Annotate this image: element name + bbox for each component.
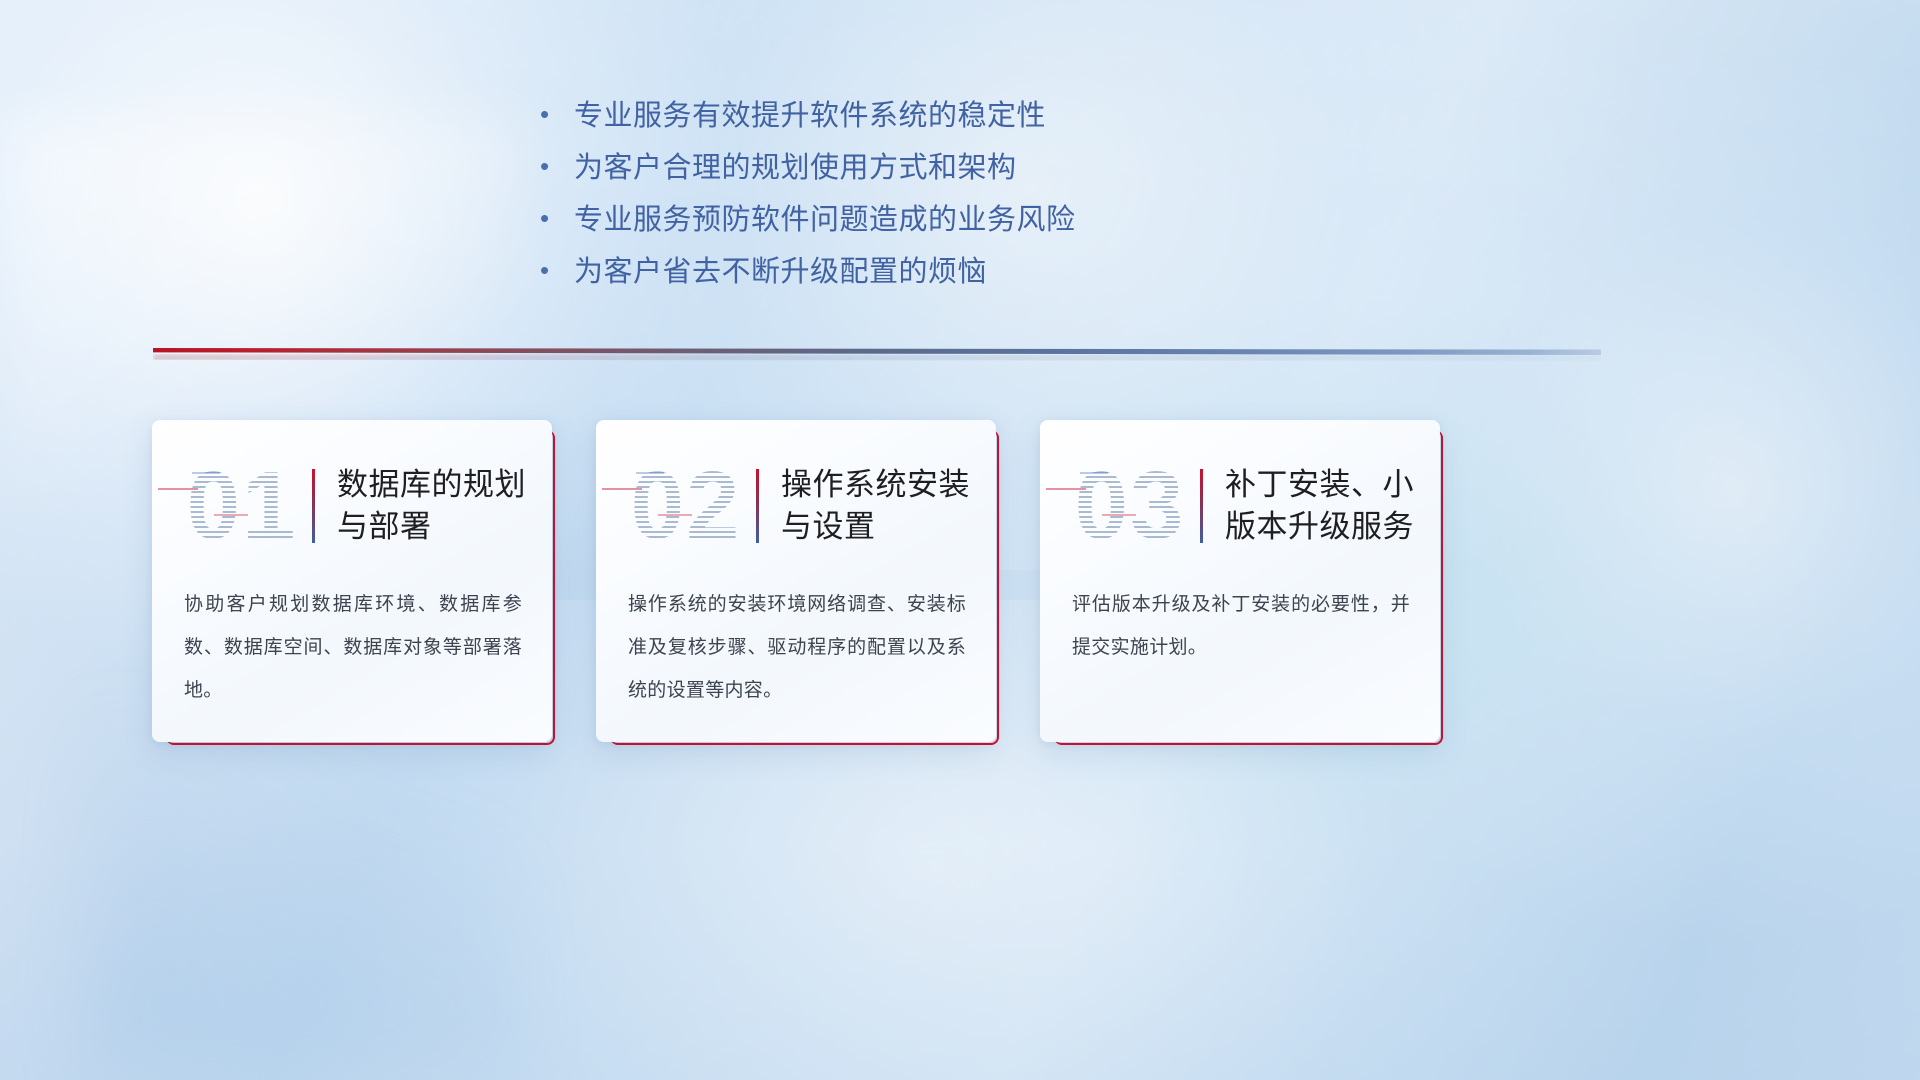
number-accent-red2-icon [214,514,248,516]
bullet-text: 为客户合理的规划使用方式和架构 [574,144,1017,186]
bullet-dot-icon: • [540,257,574,283]
bullet-dot-icon: • [540,153,574,179]
service-card[interactable]: 02 操作系统安装与设置 操作系统的安装环境网络调查、安装标准及复核步骤、驱动程… [596,420,996,742]
card-title: 数据库的规划与部署 [337,464,552,547]
divider-shadow [153,354,1601,362]
number-accent-red-icon [602,488,642,490]
title-accent-bar-icon [312,469,315,543]
bullet-text: 为客户省去不断升级配置的烦恼 [574,248,987,290]
divider-bar [153,348,1601,355]
bullet-dot-icon: • [540,205,574,231]
service-card-header: 03 补丁安装、小版本升级服务 [1040,442,1440,570]
card-description: 评估版本升级及补丁安装的必要性，并提交实施计划。 [1072,584,1410,670]
bullet-item-3: • 专业服务预防软件问题造成的业务风险 [540,196,1540,248]
card-number: 02 [622,451,750,561]
card-title: 操作系统安装与设置 [781,464,996,547]
card-description: 操作系统的安装环境网络调查、安装标准及复核步骤、驱动程序的配置以及系统的设置等内… [628,584,966,712]
card-description: 协助客户规划数据库环境、数据库参数、数据库空间、数据库对象等部署落地。 [184,584,522,712]
card-number: 01 [178,451,306,561]
service-card-header: 02 操作系统安装与设置 [596,442,996,570]
bullet-item-4: • 为客户省去不断升级配置的烦恼 [540,248,1540,300]
card-number: 03 [1066,451,1194,561]
title-accent-bar-icon [756,469,759,543]
title-accent-bar-icon [1200,469,1203,543]
bullet-item-2: • 为客户合理的规划使用方式和架构 [540,144,1540,196]
bullet-dot-icon: • [540,101,574,127]
number-accent-blue-icon [1080,472,1108,474]
service-card[interactable]: 03 补丁安装、小版本升级服务 评估版本升级及补丁安装的必要性，并提交实施计划。 [1040,420,1440,742]
number-accent-red-icon [1046,488,1086,490]
number-accent-red2-icon [1102,514,1136,516]
number-accent-blue-icon [636,472,664,474]
number-accent-red2-icon [658,514,692,516]
service-card-body: 02 操作系统安装与设置 操作系统的安装环境网络调查、安装标准及复核步骤、驱动程… [596,420,996,742]
service-card[interactable]: 01 数据库的规划与部署 协助客户规划数据库环境、数据库参数、数据库空间、数据库… [152,420,552,742]
card-title: 补丁安装、小版本升级服务 [1225,464,1440,547]
number-accent-blue-icon [192,472,220,474]
service-card-body: 03 补丁安装、小版本升级服务 评估版本升级及补丁安装的必要性，并提交实施计划。 [1040,420,1440,742]
number-accent-red-icon [158,488,198,490]
service-card-body: 01 数据库的规划与部署 协助客户规划数据库环境、数据库参数、数据库空间、数据库… [152,420,552,742]
bullet-text: 专业服务有效提升软件系统的稳定性 [574,92,1046,134]
bullet-item-1: • 专业服务有效提升软件系统的稳定性 [540,92,1540,144]
benefits-bullet-list: • 专业服务有效提升软件系统的稳定性 • 为客户合理的规划使用方式和架构 • 专… [540,92,1540,300]
section-divider [153,348,1601,362]
service-card-header: 01 数据库的规划与部署 [152,442,552,570]
service-card-list: 01 数据库的规划与部署 协助客户规划数据库环境、数据库参数、数据库空间、数据库… [152,420,1770,742]
bullet-text: 专业服务预防软件问题造成的业务风险 [574,196,1076,238]
